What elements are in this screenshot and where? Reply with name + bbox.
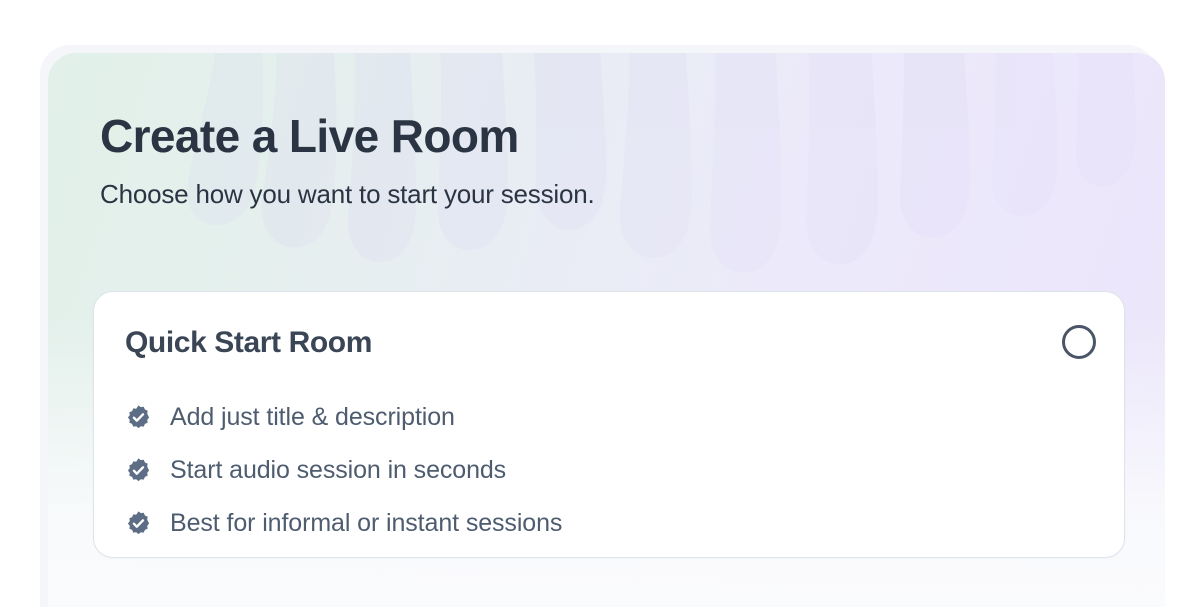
feature-label: Start audio session in seconds xyxy=(170,458,506,483)
verified-check-badge-icon xyxy=(125,510,152,537)
page-subtitle: Choose how you want to start your sessio… xyxy=(100,179,595,210)
gradient-header-panel: Create a Live Room Choose how you want t… xyxy=(48,53,1165,607)
verified-check-badge-icon xyxy=(125,457,152,484)
feature-label: Best for informal or instant sessions xyxy=(170,511,562,536)
app-window: Create a Live Room Choose how you want t… xyxy=(8,8,1192,607)
list-item: Best for informal or instant sessions xyxy=(125,497,562,550)
feature-label: Add just title & description xyxy=(170,405,455,430)
page-title: Create a Live Room xyxy=(100,111,595,163)
feature-list: Add just title & description Start audio… xyxy=(125,391,562,550)
radio-unchecked-icon[interactable] xyxy=(1062,325,1096,359)
option-card-title: Quick Start Room xyxy=(125,328,372,358)
header-block: Create a Live Room Choose how you want t… xyxy=(100,111,595,210)
list-item: Add just title & description xyxy=(125,391,562,444)
quick-start-room-option-card[interactable]: Quick Start Room Add just title & descri… xyxy=(93,291,1125,558)
verified-check-badge-icon xyxy=(125,404,152,431)
option-card-header: Quick Start Room xyxy=(125,328,1096,359)
list-item: Start audio session in seconds xyxy=(125,444,562,497)
